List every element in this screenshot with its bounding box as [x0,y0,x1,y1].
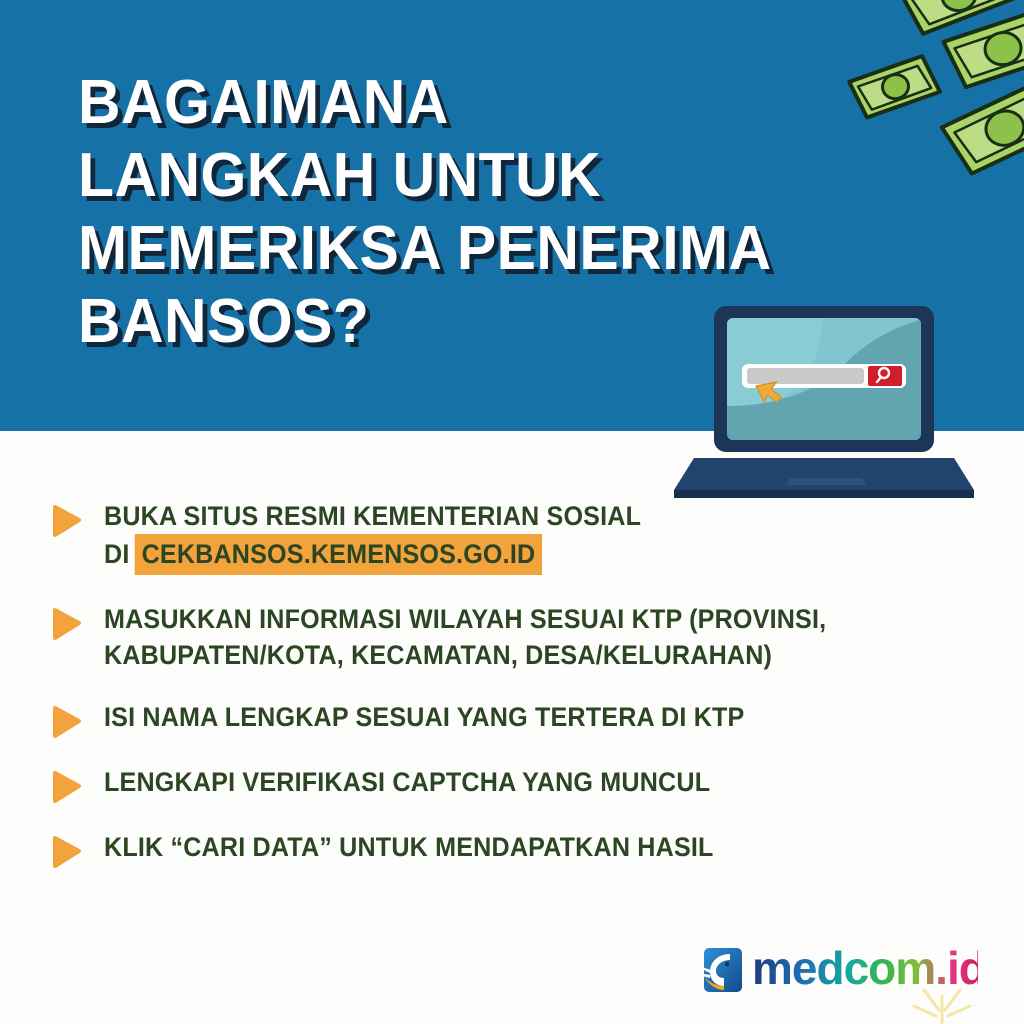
page-title: BAGAIMANA LANGKAH UNTUK MEMERIKSA PENERI… [78,66,908,358]
infographic-poster: BAGAIMANA LANGKAH UNTUK MEMERIKSA PENERI… [0,0,1024,1024]
list-item: KLIK “CARI DATA” UNTUK MENDAPATKAN HASIL [52,829,982,868]
headline-line-2: LANGKAH UNTUK [78,139,867,212]
step-1-prefix: DI [104,539,129,569]
search-input-field [747,368,864,384]
step-2-line-1: MASUKKAN INFORMASI WILAYAH SESUAI KTP (P… [104,601,921,637]
list-item: MASUKKAN INFORMASI WILAYAH SESUAI KTP (P… [52,601,982,673]
svg-text:medcom.id: medcom.id [752,944,978,994]
laptop-trackpad [786,478,866,485]
step-4-line-1: LENGKAPI VERIFIKASI CAPTCHA YANG MUNCUL [104,764,921,800]
laptop-base-front [674,490,974,498]
headline-line-3: MEMERIKSA PENERIMA [78,212,867,285]
steps-list: BUKA SITUS RESMI KEMENTERIAN SOSIAL DICE… [52,498,982,894]
medcom-logo[interactable]: medcom.id [694,938,984,1002]
laptop-base-top [674,458,974,490]
medcom-eagle-icon [694,944,746,996]
step-5-text: KLIK “CARI DATA” UNTUK MENDAPATKAN HASIL [104,829,982,865]
step-2-text: MASUKKAN INFORMASI WILAYAH SESUAI KTP (P… [104,601,982,673]
step-1-text: BUKA SITUS RESMI KEMENTERIAN SOSIAL DICE… [104,498,982,575]
medcom-wordmark: medcom.id [752,944,978,996]
headline-line-1: BAGAIMANA [78,66,867,139]
step-2-line-2: KABUPATEN/KOTA, KECAMATAN, DESA/KELURAHA… [104,637,921,673]
step-4-text: LENGKAPI VERIFIKASI CAPTCHA YANG MUNCUL [104,764,982,800]
triangle-bullet-icon [52,706,82,738]
step-5-line-1: KLIK “CARI DATA” UNTUK MENDAPATKAN HASIL [104,829,921,865]
step-3-line-1: ISI NAMA LENGKAP SESUAI YANG TERTERA DI … [104,699,921,735]
step-1-line-2: DICEKBANSOS.KEMENSOS.GO.ID [104,534,921,575]
triangle-bullet-icon [52,771,82,803]
headline-line-4: BANSOS? [78,285,867,358]
step-3-text: ISI NAMA LENGKAP SESUAI YANG TERTERA DI … [104,699,982,735]
triangle-bullet-icon [52,505,82,537]
triangle-bullet-icon [52,836,82,868]
cekbansos-url-chip[interactable]: CEKBANSOS.KEMENSOS.GO.ID [135,534,542,575]
list-item: BUKA SITUS RESMI KEMENTERIAN SOSIAL DICE… [52,498,982,575]
triangle-bullet-icon [52,608,82,640]
list-item: LENGKAPI VERIFIKASI CAPTCHA YANG MUNCUL [52,764,982,803]
list-item: ISI NAMA LENGKAP SESUAI YANG TERTERA DI … [52,699,982,738]
